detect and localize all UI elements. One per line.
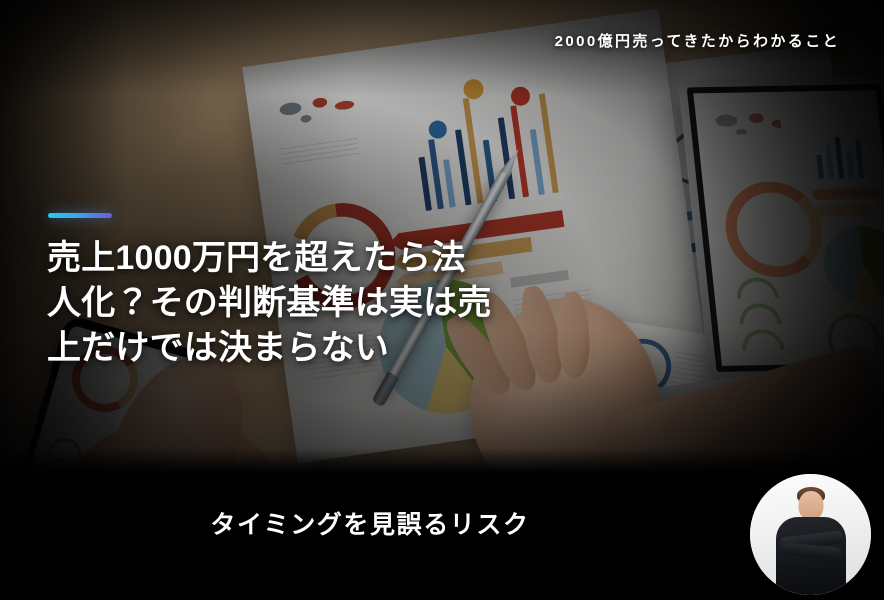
page-title: 売上1000万円を超えたら法 人化？その判断基準は実は売 上だけでは決まらない [47, 236, 477, 371]
page-title-line-3: 上だけでは決まらない [47, 326, 477, 371]
avatar [750, 474, 871, 595]
thumbnail-canvas: 2000億円売ってきたからわかること 売上1000万円を超えたら法 人化？その判… [0, 0, 884, 600]
series-label: 2000億円売ってきたからわかること [555, 30, 840, 51]
page-title-line-1: 売上1000万円を超えたら法 [47, 236, 477, 281]
page-title-line-2: 人化？その判断基準は実は売 [47, 281, 477, 326]
avatar-head [798, 491, 823, 520]
accent-bar [48, 213, 112, 218]
bottom-caption: タイミングを見誤るリスク [0, 505, 740, 541]
